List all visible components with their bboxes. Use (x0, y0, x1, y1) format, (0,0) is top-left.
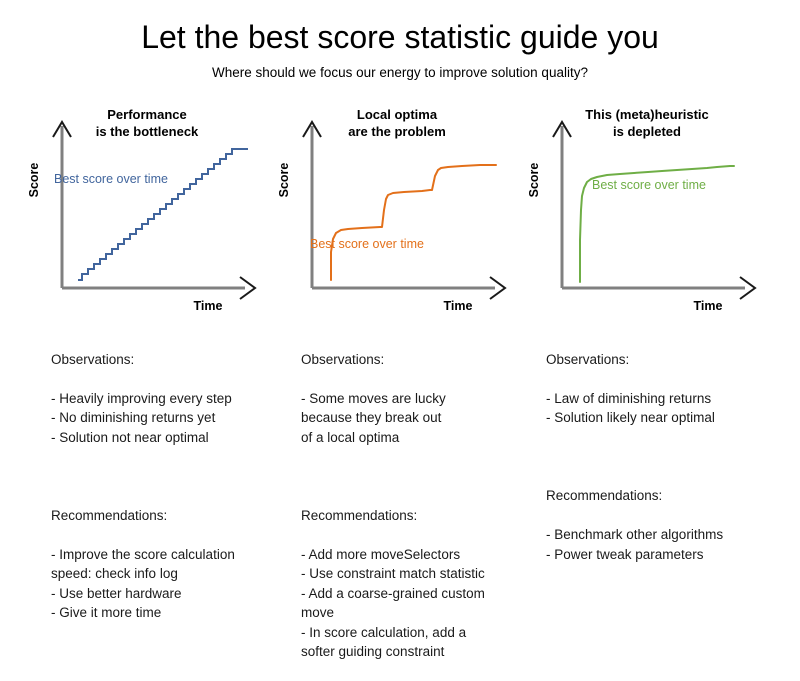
observations-list: - Heavily improving every step - No dimi… (51, 389, 279, 448)
series-annotation-best-score: Best score over time (54, 172, 168, 186)
text-column-metaheuristic-depleted: Observations: - Law of diminishing retur… (546, 330, 786, 584)
header: Let the best score statistic guide you W… (0, 0, 800, 82)
page-subtitle: Where should we focus our energy to impr… (0, 64, 800, 82)
observations-list: - Law of diminishing returns - Solution … (546, 389, 786, 428)
recommendations-heading: Recommendations: (301, 506, 529, 526)
recommendations-list: - Improve the score calculation speed: c… (51, 545, 279, 623)
chart-panels: Performance is the bottleneck Score Time… (0, 100, 800, 330)
text-columns: Observations: - Heavily improving every … (0, 330, 800, 600)
series-line-best-score (331, 165, 496, 280)
observations-heading: Observations: (301, 350, 529, 370)
recommendations-list: - Add more moveSelectors - Use constrain… (301, 545, 529, 662)
text-column-local-optima: Observations: - Some moves are lucky bec… (301, 330, 529, 681)
recommendations-heading: Recommendations: (546, 486, 786, 506)
chart-svg-performance-bottleneck: Score Time Best score over time (12, 100, 282, 330)
series-annotation-best-score: Best score over time (310, 237, 424, 251)
x-axis-label: Time (694, 299, 723, 313)
recommendations-heading: Recommendations: (51, 506, 279, 526)
series-annotation-best-score: Best score over time (592, 178, 706, 192)
chart-svg-metaheuristic-depleted: Score Time Best score over time (512, 100, 782, 330)
y-axis-label: Score (527, 163, 541, 198)
observations-heading: Observations: (546, 350, 786, 370)
chart-panel-metaheuristic-depleted: This (meta)heuristic is depleted Score T… (512, 100, 782, 330)
y-axis-label: Score (27, 163, 41, 198)
section-spacer (301, 467, 529, 487)
series-line-best-score (78, 149, 248, 280)
section-spacer (546, 447, 786, 467)
text-column-performance-bottleneck: Observations: - Heavily improving every … (51, 330, 279, 642)
chart-panel-local-optima: Local optima are the problem Score Time … (262, 100, 532, 330)
observations-list: - Some moves are lucky because they brea… (301, 389, 529, 448)
x-axis-label: Time (194, 299, 223, 313)
chart-panel-performance-bottleneck: Performance is the bottleneck Score Time… (12, 100, 282, 330)
x-axis-label: Time (444, 299, 473, 313)
observations-heading: Observations: (51, 350, 279, 370)
chart-svg-local-optima: Score Time Best score over time (262, 100, 532, 330)
y-axis-label: Score (277, 163, 291, 198)
page-title: Let the best score statistic guide you (0, 18, 800, 56)
section-spacer (51, 467, 279, 487)
recommendations-list: - Benchmark other algorithms - Power twe… (546, 525, 786, 564)
